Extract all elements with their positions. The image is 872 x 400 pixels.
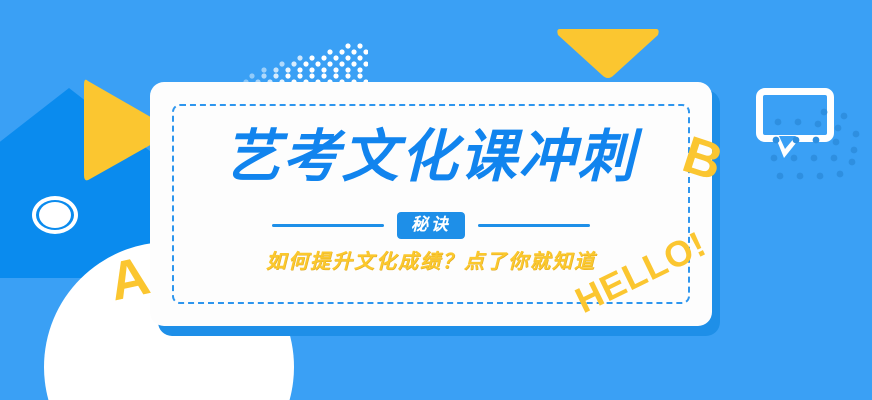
page-title: 艺考文化课冲刺 bbox=[150, 125, 710, 189]
ring-circle-inner-icon bbox=[39, 202, 71, 228]
promo-banner: 艺考文化课冲刺 秘诀 如何提升文化成绩？点了你就知道 A B HELLO! bbox=[0, 0, 872, 400]
badge-row: 秘诀 bbox=[150, 212, 712, 238]
rule-right bbox=[478, 224, 590, 227]
blue-dot-grid bbox=[768, 108, 868, 186]
status-badge: 秘诀 bbox=[397, 212, 465, 239]
rule-left bbox=[272, 224, 384, 227]
down-triangle-icon bbox=[556, 27, 660, 79]
